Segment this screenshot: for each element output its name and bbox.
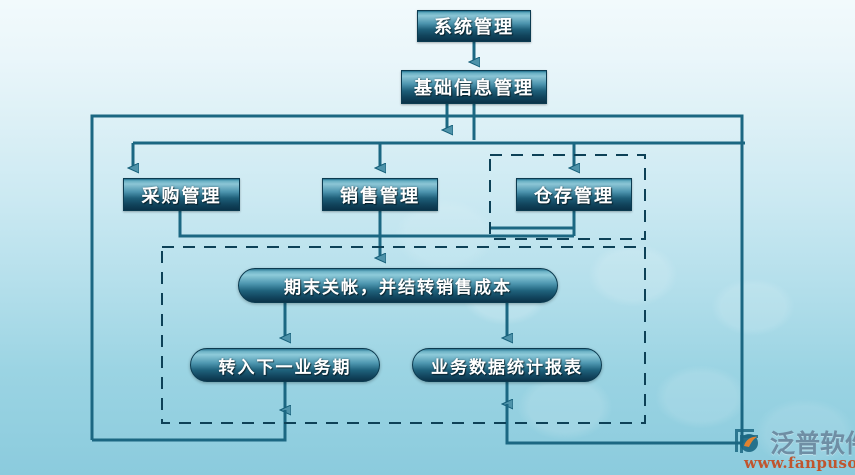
node-inventory-management[interactable]: 仓存管理 [516,178,632,211]
node-statistics-report[interactable]: 业务数据统计报表 [412,348,602,382]
node-purchase-management[interactable]: 采购管理 [123,178,240,211]
edge-purchase-to-merge [180,211,574,236]
node-next-period[interactable]: 转入下一业务期 [190,348,380,382]
node-basic-info-management[interactable]: 基础信息管理 [401,70,547,104]
node-sales-management[interactable]: 销售管理 [322,178,438,211]
node-system-management[interactable]: 系统管理 [417,10,531,42]
node-period-close[interactable]: 期末关帐，并结转销售成本 [238,268,558,303]
edge-next-to-frame [92,410,285,440]
diagram-canvas: 系统管理 基础信息管理 采购管理 销售管理 仓存管理 期末关帐，并结转销售成本 … [0,0,855,475]
edge-inventory-left-hook [490,211,574,228]
